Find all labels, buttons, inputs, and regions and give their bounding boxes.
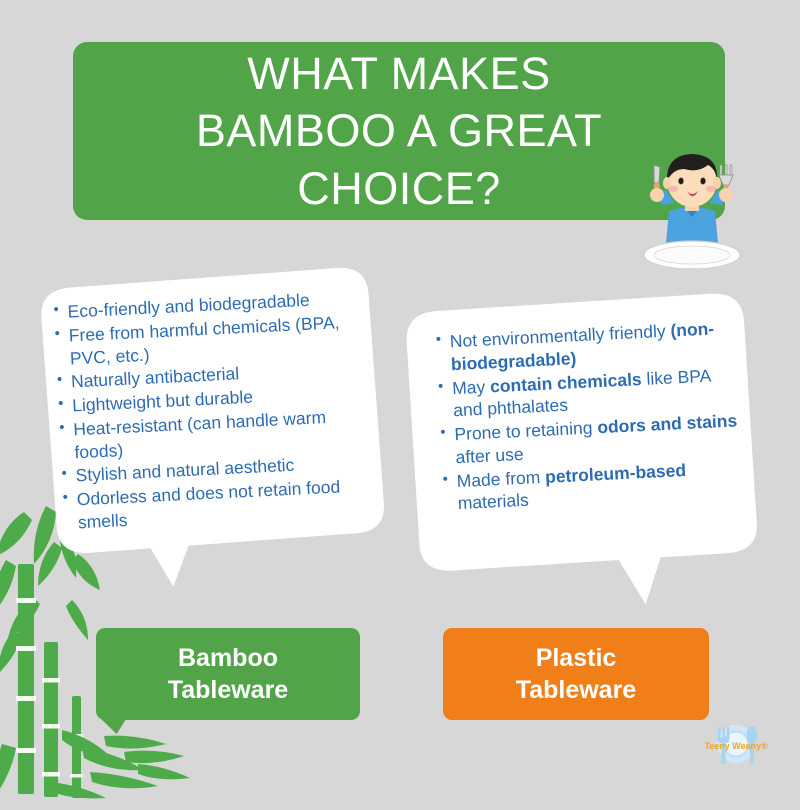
plastic-drawbacks-list: Not environmentally friendly (non-biodeg…: [433, 316, 742, 516]
plastic-tableware-label[interactable]: Plastic Tableware: [443, 628, 709, 720]
brand-logo[interactable]: Teeny Weany®: [698, 718, 774, 774]
plastic-drawbacks-bubble: Not environmentally friendly (non-biodeg…: [394, 283, 773, 623]
bamboo-benefits-bubble: Eco-friendly and biodegradableFree from …: [19, 260, 393, 600]
boy-with-knife-and-fork-icon: [632, 143, 752, 268]
infographic-canvas: WHAT MAKES BAMBOO A GREAT CHOICE?: [0, 0, 800, 800]
brand-logo-text: Teeny Weany®: [704, 741, 768, 751]
header-banner: WHAT MAKES BAMBOO A GREAT CHOICE?: [73, 42, 725, 220]
bamboo-tableware-label[interactable]: Bamboo Tableware: [96, 628, 360, 720]
bamboo-benefits-list: Eco-friendly and biodegradableFree from …: [51, 287, 362, 536]
page-title: WHAT MAKES BAMBOO A GREAT CHOICE?: [156, 45, 642, 218]
